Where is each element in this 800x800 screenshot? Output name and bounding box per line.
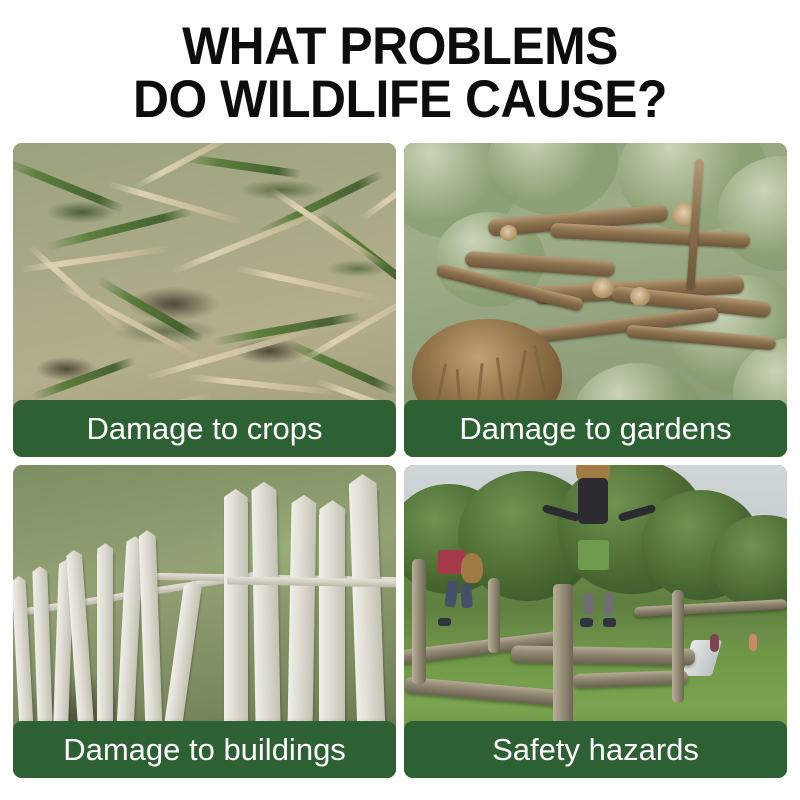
card-damage-to-crops[interactable]: Damage to crops	[13, 143, 396, 457]
caption-text-gardens: Damage to gardens	[422, 412, 769, 446]
card-damage-to-buildings[interactable]: Damage to buildings	[13, 465, 396, 778]
title-line-2: DO WILDLIFE CAUSE?	[24, 73, 776, 126]
title-line-1: WHAT PROBLEMS	[24, 20, 776, 73]
caption-bar-gardens: Damage to gardens	[404, 400, 787, 457]
caption-bar-crops: Damage to crops	[13, 400, 396, 457]
page-title: WHAT PROBLEMS DO WILDLIFE CAUSE?	[0, 20, 800, 126]
infographic-page: WHAT PROBLEMS DO WILDLIFE CAUSE?	[0, 0, 800, 800]
card-damage-to-gardens[interactable]: Damage to gardens	[404, 143, 787, 457]
problem-card-grid: Damage to crops	[13, 143, 787, 778]
caption-text-buildings: Damage to buildings	[31, 733, 378, 767]
card-safety-hazards[interactable]: Safety hazards	[404, 465, 787, 778]
caption-bar-safety: Safety hazards	[404, 721, 787, 778]
caption-text-safety: Safety hazards	[422, 733, 769, 767]
caption-text-crops: Damage to crops	[31, 412, 378, 446]
caption-bar-buildings: Damage to buildings	[13, 721, 396, 778]
